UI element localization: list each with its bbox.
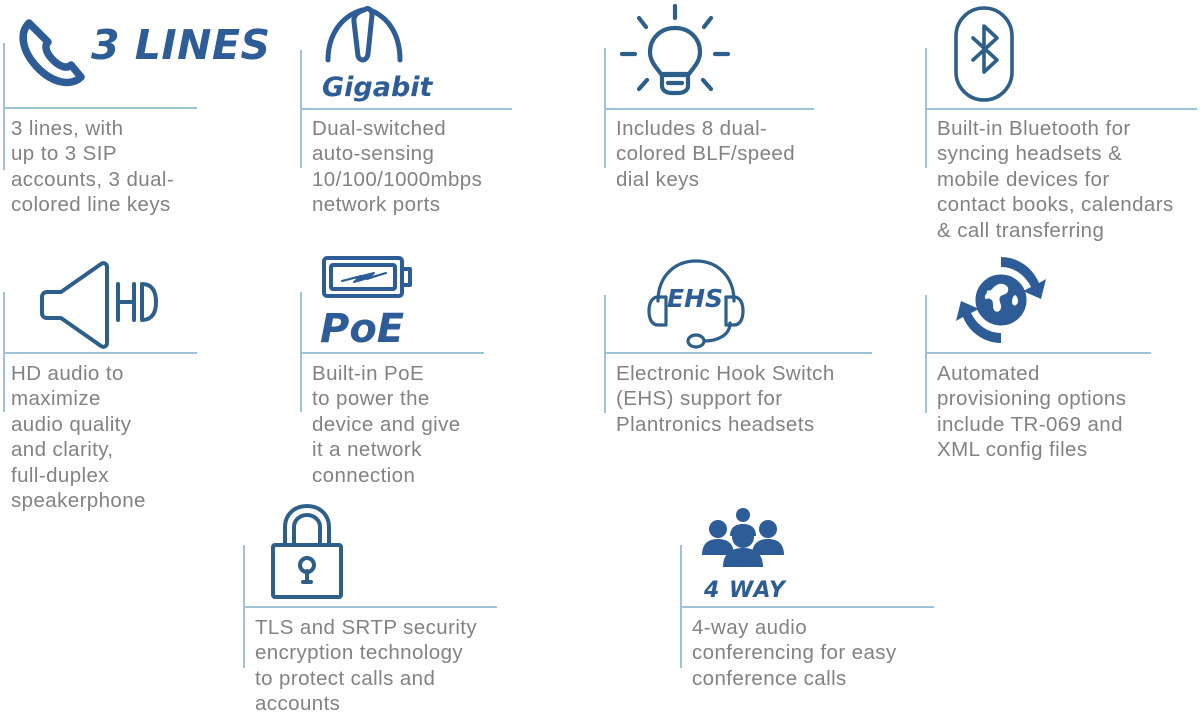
lightbulb-icon (620, 4, 730, 106)
headset-icon: EHS (646, 253, 746, 349)
svg-text:3 LINES: 3 LINES (91, 21, 271, 69)
card-divider-horizontal (243, 606, 497, 608)
card-divider-vertical (604, 295, 606, 413)
globe-sync-icon (951, 251, 1051, 349)
card-divider-horizontal (300, 108, 512, 110)
gigabit-network-signal-icon: Gigabit (316, 4, 436, 104)
svg-text:4 WAY: 4 WAY (703, 578, 787, 603)
feature-grid: 3 LINES 3 lines, with up to 3 SIP accoun… (0, 0, 1200, 712)
card-divider-horizontal (300, 352, 484, 354)
svg-text:Gigabit: Gigabit (322, 72, 434, 103)
feature-description: Built-in PoE to power the device and giv… (312, 361, 522, 488)
card-divider-horizontal (604, 108, 814, 110)
feature-description: Electronic Hook Switch (EHS) support for… (616, 361, 896, 437)
feature-description: 4-way audio conferencing for easy confer… (692, 615, 972, 691)
card-divider-horizontal (3, 107, 197, 109)
feature-description: Includes 8 dual- colored BLF/speed dial … (616, 116, 846, 192)
card-divider-vertical (925, 295, 927, 413)
padlock-icon (265, 502, 349, 602)
hd-speaker-icon (39, 258, 159, 350)
feature-description: 3 lines, with up to 3 SIP accounts, 3 du… (11, 116, 211, 218)
svg-text:PoE: PoE (320, 306, 404, 352)
people-group-icon: 4 WAY (700, 505, 786, 602)
card-divider-horizontal (3, 352, 197, 354)
card-divider-horizontal (925, 352, 1151, 354)
feature-description: TLS and SRTP security encryption technol… (255, 615, 535, 712)
battery-power-icon: PoE (318, 252, 424, 350)
phone-handset-icon: 3 LINES (13, 11, 193, 103)
feature-description: HD audio to maximize audio quality and c… (11, 361, 211, 513)
bluetooth-icon (943, 4, 1033, 106)
svg-text:EHS: EHS (667, 284, 723, 313)
card-divider-horizontal (925, 108, 1197, 110)
card-divider-horizontal (680, 606, 934, 608)
feature-description: Built-in Bluetooth for syncing headsets … (937, 116, 1200, 243)
feature-description: Automated provisioning options include T… (937, 361, 1187, 463)
card-divider-horizontal (604, 352, 872, 354)
feature-description: Dual-switched auto-sensing 10/100/1000mb… (312, 116, 532, 218)
